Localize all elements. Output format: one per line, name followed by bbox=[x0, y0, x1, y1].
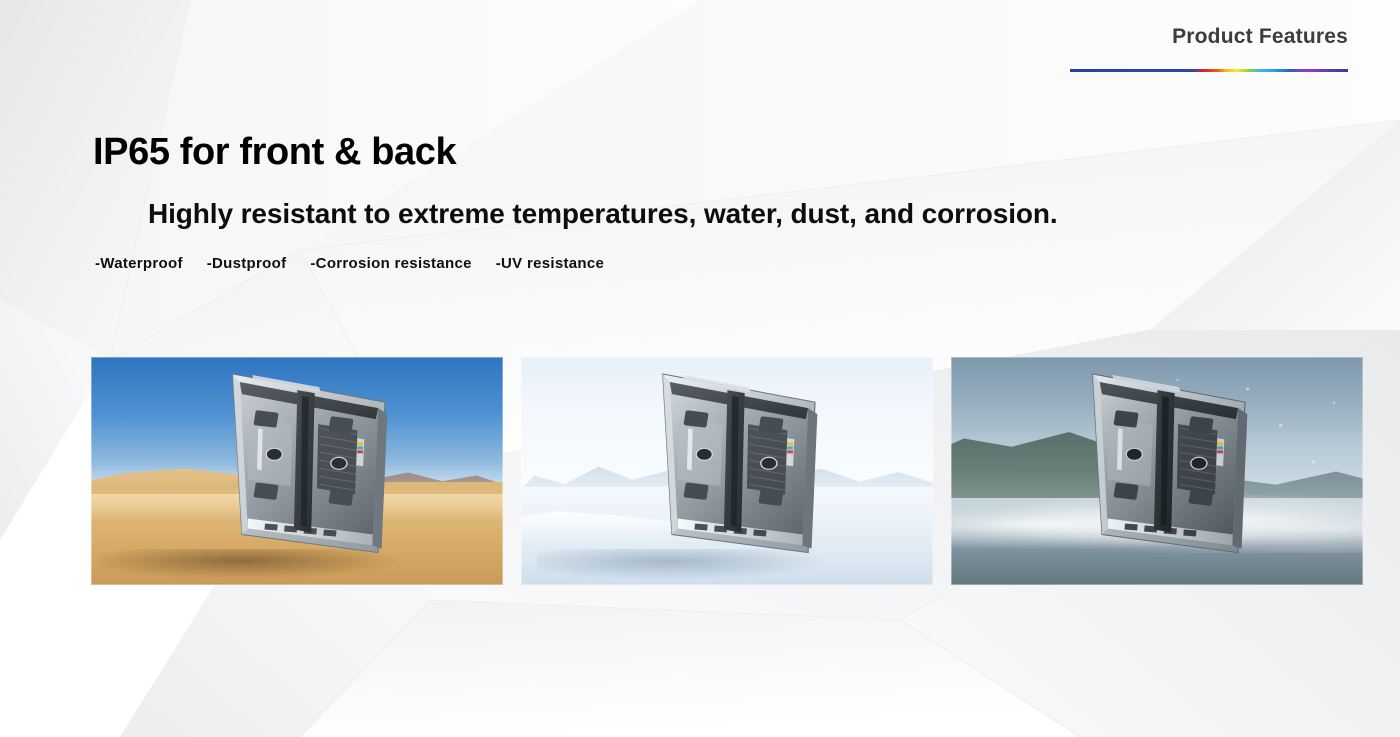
feature-bullet-waterproof: -Waterproof bbox=[95, 255, 183, 272]
feature-bullet-list: -Waterproof -Dustproof -Corrosion resist… bbox=[95, 255, 604, 272]
rainbow-divider bbox=[1070, 69, 1348, 72]
headline: IP65 for front & back bbox=[93, 131, 456, 174]
photo-desert bbox=[91, 357, 503, 585]
led-cabinet-snow bbox=[612, 366, 843, 567]
feature-bullet-uv-resistance: -UV resistance bbox=[496, 255, 604, 272]
subheadline: Highly resistant to extreme temperatures… bbox=[148, 198, 1058, 230]
led-cabinet-rain bbox=[1042, 366, 1273, 567]
led-cabinet-desert bbox=[182, 366, 413, 567]
feature-bullet-corrosion-resistance: -Corrosion resistance bbox=[310, 255, 471, 272]
page-title: Product Features bbox=[1058, 24, 1348, 49]
slide-canvas: Product Features IP65 for front & back H… bbox=[0, 0, 1400, 737]
photo-snow bbox=[521, 357, 933, 585]
feature-bullet-dustproof: -Dustproof bbox=[207, 255, 287, 272]
photo-rain bbox=[951, 357, 1363, 585]
header-block: Product Features bbox=[1058, 24, 1348, 72]
